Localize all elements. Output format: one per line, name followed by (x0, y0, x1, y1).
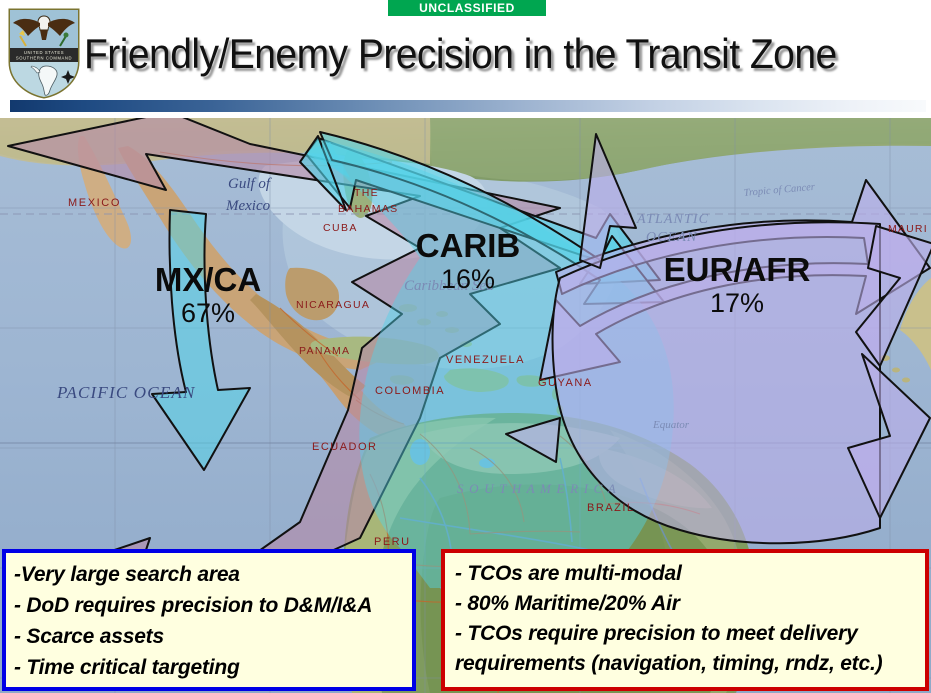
map-label-cuba: CUBA (323, 222, 358, 234)
map-label-venezuela: VENEZUELA (446, 354, 525, 366)
map-label-peru: PERU (374, 536, 411, 548)
map-label-gulf-of-mexico-1: Gulf of (228, 176, 272, 192)
map-label-brazil: BRAZIL (587, 502, 635, 514)
classification-banner: UNCLASSIFIED (388, 0, 546, 16)
map-label-mexico: MEXICO (68, 197, 121, 209)
title-divider-bar (10, 100, 926, 112)
callout-right-line-2: - 80% Maritime/20% Air (455, 589, 919, 619)
callout-right-line-1: - TCOs are multi-modal (455, 559, 919, 589)
map-label-south-america: S O U T H A M E R I C A (457, 481, 617, 496)
map-label-nicaragua: NICARAGUA (296, 299, 370, 311)
seal-text-line2: SOUTHERN COMMAND (16, 56, 72, 61)
callout-right-line-3: - TCOs require precision to meet deliver… (455, 619, 919, 679)
map-label-colombia: COLOMBIA (375, 385, 445, 397)
slide-canvas: UNCLASSIFIED (0, 0, 931, 693)
map-label-ecuador: ECUADOR (312, 441, 378, 453)
callout-box-friendly: -Very large search area - DoD requires p… (2, 549, 416, 691)
map-label-mauritania: MAURI (888, 223, 928, 235)
map-label-gulf-of-mexico-2: Mexico (225, 198, 271, 214)
map-label-guyana: GUYANA (538, 377, 593, 389)
map-label-caribbean-sea: Caribbean Sea (404, 278, 494, 294)
map-label-bahamas-2: BAHAMAS (338, 203, 398, 215)
seal-text-line1: UNITED STATES (24, 50, 64, 55)
map-label-equator: Equator (652, 419, 690, 431)
callout-left-line-3: - Scarce assets (14, 621, 408, 652)
map-label-atlantic-ocean-1: ATLANTIC (636, 212, 709, 227)
callout-left-line-1: -Very large search area (14, 559, 408, 590)
southcom-seal-icon: UNITED STATES SOUTHERN COMMAND (6, 6, 82, 100)
callout-left-line-4: - Time critical targeting (14, 652, 408, 683)
callout-box-enemy: - TCOs are multi-modal - 80% Maritime/20… (441, 549, 929, 691)
map-label-atlantic-ocean-2: OCEAN (646, 230, 697, 245)
map-label-bahamas-1: THE (354, 187, 379, 199)
map-label-pacific-ocean: PACIFIC OCEAN (56, 383, 196, 402)
page-title: Friendly/Enemy Precision in the Transit … (84, 28, 884, 84)
map-label-panama: PANAMA (299, 345, 350, 357)
callout-left-line-2: - DoD requires precision to D&M/I&A (14, 590, 408, 621)
